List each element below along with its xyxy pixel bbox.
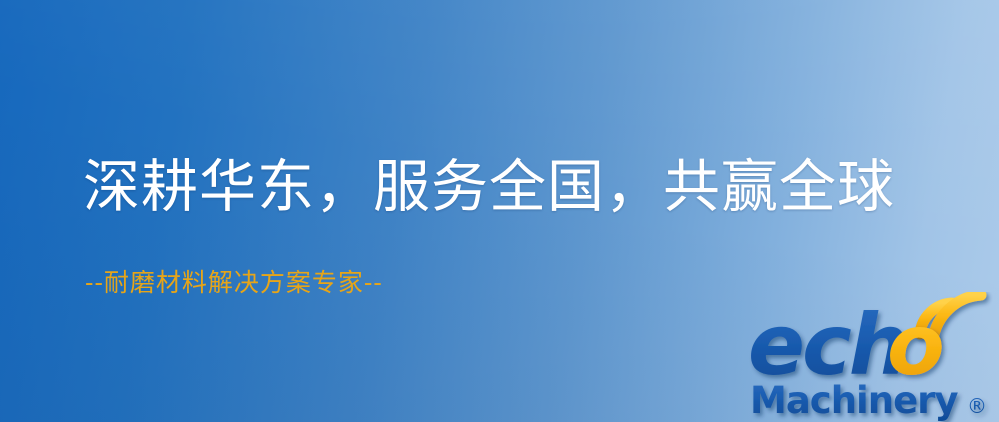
banner-headline: 深耕华东，服务全国，共赢全球 (83, 152, 895, 222)
logo-svg: ech o Machinery ® (748, 292, 999, 422)
logo-tagline: Machinery (750, 379, 958, 422)
banner-subheadline: --耐磨材料解决方案专家-- (85, 266, 383, 300)
hero-banner: 深耕华东，服务全国，共赢全球 --耐磨材料解决方案专家-- (0, 0, 999, 422)
logo-registered-mark: ® (967, 394, 987, 418)
echo-machinery-logo: ech o Machinery ® (748, 292, 999, 422)
